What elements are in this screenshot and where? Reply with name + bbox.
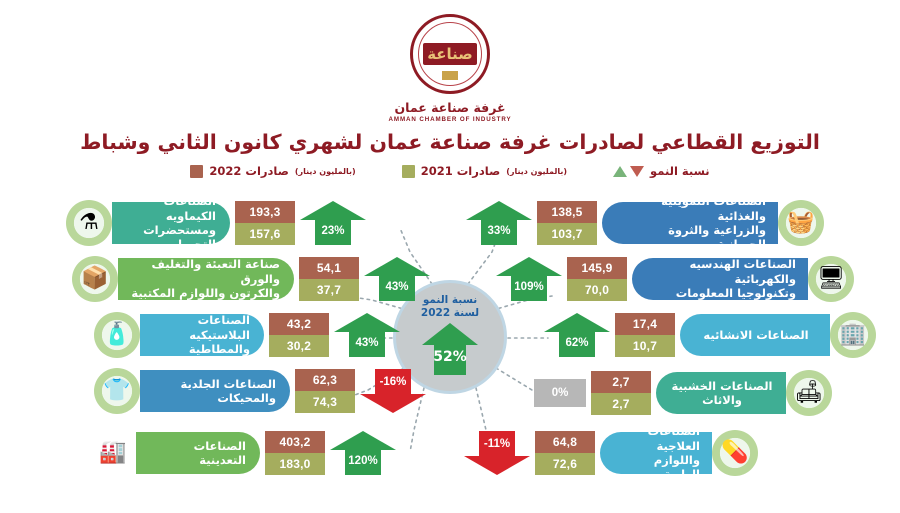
sector-label-line1: الصناعات الخشبية والاثاث xyxy=(670,379,774,408)
value-stack: 145,9 70,0 xyxy=(567,257,627,301)
hub-growth-value: 52% xyxy=(422,349,478,365)
value-2022: 138,5 xyxy=(537,201,597,223)
value-2021: 2,7 xyxy=(591,393,651,415)
growth-up-arrow-icon: 62% xyxy=(544,313,610,357)
value-2022: 43,2 xyxy=(269,313,329,335)
sector-label-line1: الصناعات التعدينية xyxy=(148,439,246,468)
growth-up-arrow-icon: 43% xyxy=(364,257,430,301)
value-stack: 2,7 2,7 xyxy=(591,371,651,415)
value-2021: 103,7 xyxy=(537,223,597,245)
legend-item-growth: نسبة النمو xyxy=(613,164,710,178)
legend-label-2022: صادرات 2022 xyxy=(209,164,288,178)
sector-row[interactable]: 💊 الصناعات العلاجية واللوازم الطبية 64,8… xyxy=(464,430,758,476)
sector-label-line1: الصناعات البلاستيكيه xyxy=(152,313,250,342)
value-stack: 403,2 183,0 xyxy=(265,431,325,475)
seal-text: صناعة xyxy=(427,47,473,62)
growth-up-arrow-icon: 43% xyxy=(334,313,400,357)
sector-label-line1: الصناعات التموينية والغذائية xyxy=(616,194,766,223)
value-2021: 37,7 xyxy=(299,279,359,301)
value-2021: 183,0 xyxy=(265,453,325,475)
sector-label-bar[interactable]: الصناعات الجلدية والمحيكات xyxy=(140,370,290,412)
sector-row[interactable]: 43% 43,2 30,2 الصناعات البلاستيكيه والمط… xyxy=(94,312,400,358)
legend-swatch-2022-icon xyxy=(190,165,203,178)
brand-logo: صناعة غرفة صناعة عمان AMMAN CHAMBER OF I… xyxy=(0,14,900,123)
sector-label-bar[interactable]: الصناعات التموينية والغذائية والزراعية و… xyxy=(602,202,778,244)
chamber-seal-icon: صناعة xyxy=(410,14,490,94)
sector-row[interactable]: 43% 54,1 37,7 صناعة التعبئة والتغليف وال… xyxy=(72,256,430,302)
sector-label-bar[interactable]: الصناعات الخشبية والاثاث xyxy=(656,372,786,414)
sector-label-line1: الصناعات الكيماويه xyxy=(124,194,216,223)
value-stack: 138,5 103,7 xyxy=(537,201,597,245)
sector-label-bar[interactable]: الصناعات الهندسيه والكهربائية وتكنولوجيا… xyxy=(632,258,808,300)
value-2022: 2,7 xyxy=(591,371,651,393)
value-2022: 62,3 xyxy=(295,369,355,391)
growth-value: 43% xyxy=(364,281,430,293)
sector-label-bar[interactable]: الصناعات العلاجية واللوازم الطبية xyxy=(600,432,712,474)
legend-label-growth: نسبة النمو xyxy=(650,164,710,178)
brand-name-en: AMMAN CHAMBER OF INDUSTRY xyxy=(389,116,512,123)
growth-value: 23% xyxy=(300,225,366,237)
infographic-canvas: صناعة غرفة صناعة عمان AMMAN CHAMBER OF I… xyxy=(0,0,900,513)
legend-label-2021: صادرات 2021 xyxy=(421,164,500,178)
up-arrow-icon: 52% xyxy=(422,323,478,375)
sector-label-line2: والزراعية والثروة الحيوانية xyxy=(616,223,766,252)
page-title: التوزيع القطاعي لصادرات غرفة صناعة عمان … xyxy=(0,130,900,154)
mining-silos-icon: 🏭 xyxy=(90,430,136,476)
value-stack: 43,2 30,2 xyxy=(269,313,329,357)
value-2022: 193,3 xyxy=(235,201,295,223)
growth-down-arrow-icon: -16% xyxy=(360,369,426,413)
legend-swatch-2021-icon xyxy=(402,165,415,178)
sector-label-line1: صناعة التعبئة والتغليف والورق xyxy=(130,257,280,286)
value-2021: 70,0 xyxy=(567,279,627,301)
value-2021: 72,6 xyxy=(535,453,595,475)
growth-value: 109% xyxy=(496,281,562,293)
sector-label-line2: وتكنولوجيا المعلومات xyxy=(646,286,796,300)
sector-label-line2: ومستحضرات التجميل xyxy=(124,223,216,252)
sector-label-line1: الصناعات الجلدية والمحيكات xyxy=(152,377,276,406)
legend-item-exports-2021: (بالمليون دينار) صادرات 2021 xyxy=(402,164,567,178)
brand-name-ar: غرفة صناعة عمان xyxy=(394,100,505,115)
sector-label-bar[interactable]: الصناعات التعدينية xyxy=(136,432,260,474)
growth-up-arrow-icon: 120% xyxy=(330,431,396,475)
sector-label-bar[interactable]: الصناعات البلاستيكيه والمطاطية xyxy=(140,314,264,356)
sector-label-line2: والكرتون واللوازم المكتبية xyxy=(130,286,280,300)
sector-label-bar[interactable]: الصناعات الانشائيه xyxy=(680,314,830,356)
growth-up-arrow-icon: 23% xyxy=(300,201,366,245)
value-2021: 74,3 xyxy=(295,391,355,413)
value-2022: 403,2 xyxy=(265,431,325,453)
value-stack: 54,1 37,7 xyxy=(299,257,359,301)
sector-label-line2: واللوازم الطبية xyxy=(614,453,700,482)
legend: نسبة النمو (بالمليون دينار) صادرات 2021 … xyxy=(0,164,900,178)
building-icon: 🏢 xyxy=(830,312,876,358)
growth-value: -11% xyxy=(464,438,530,450)
sector-row[interactable]: 🛋 الصناعات الخشبية والاثاث 2,7 2,7 0% xyxy=(534,370,832,416)
value-2021: 30,2 xyxy=(269,335,329,357)
folded-textiles-icon: 👕 xyxy=(94,368,140,414)
legend-note-2022: (بالمليون دينار) xyxy=(295,167,356,176)
value-2021: 157,6 xyxy=(235,223,295,245)
sector-label-line1: الصناعات العلاجية xyxy=(614,424,700,453)
value-2022: 64,8 xyxy=(535,431,595,453)
plastic-bottle-icon: 🧴 xyxy=(94,312,140,358)
growth-up-arrow-icon: 109% xyxy=(496,257,562,301)
up-down-arrow-icon xyxy=(613,166,644,177)
value-2022: 17,4 xyxy=(615,313,675,335)
growth-value: 43% xyxy=(334,337,400,349)
seal-emblem-icon xyxy=(442,71,458,80)
growth-down-arrow-icon: -11% xyxy=(464,431,530,475)
value-stack: 17,4 10,7 xyxy=(615,313,675,357)
sector-row[interactable]: 🧺 الصناعات التموينية والغذائية والزراعية… xyxy=(466,200,824,246)
flask-icon: ⚗ xyxy=(66,200,112,246)
sector-label-bar[interactable]: صناعة التعبئة والتغليف والورق والكرتون و… xyxy=(118,258,294,300)
sector-row[interactable]: 23% 193,3 157,6 الصناعات الكيماويه ومستح… xyxy=(66,200,366,246)
value-stack: 64,8 72,6 xyxy=(535,431,595,475)
growth-value: 62% xyxy=(544,337,610,349)
circuit-board-icon: 🖥 xyxy=(808,256,854,302)
legend-note-2021: (بالمليون دينار) xyxy=(506,167,567,176)
sector-row[interactable]: -16% 62,3 74,3 الصناعات الجلدية والمحيكا… xyxy=(94,368,426,414)
medicine-icon: 💊 xyxy=(712,430,758,476)
sector-label-bar[interactable]: الصناعات الكيماويه ومستحضرات التجميل xyxy=(112,202,230,244)
armchair-icon: 🛋 xyxy=(786,370,832,416)
value-2022: 145,9 xyxy=(567,257,627,279)
grocery-basket-icon: 🧺 xyxy=(778,200,824,246)
sector-label-line1: الصناعات الهندسيه والكهربائية xyxy=(646,257,796,286)
legend-item-exports-2022: (بالمليون دينار) صادرات 2022 xyxy=(190,164,355,178)
sector-row[interactable]: 120% 403,2 183,0 الصناعات التعدينية 🏭 xyxy=(90,430,396,476)
sector-row[interactable]: 🖥 الصناعات الهندسيه والكهربائية وتكنولوج… xyxy=(496,256,854,302)
sector-label-line2: والمطاطية xyxy=(152,342,250,356)
growth-up-arrow-icon: 33% xyxy=(466,201,532,245)
value-stack: 62,3 74,3 xyxy=(295,369,355,413)
growth-zero-badge: 0% xyxy=(534,379,586,407)
growth-value: 120% xyxy=(330,455,396,467)
value-stack: 193,3 157,6 xyxy=(235,201,295,245)
value-2022: 54,1 xyxy=(299,257,359,279)
sector-label-line1: الصناعات الانشائيه xyxy=(703,328,808,342)
growth-value: -16% xyxy=(360,376,426,388)
growth-value: 33% xyxy=(466,225,532,237)
package-boxes-icon: 📦 xyxy=(72,256,118,302)
sector-row[interactable]: 🏢 الصناعات الانشائيه 17,4 10,7 62% xyxy=(544,312,876,358)
value-2021: 10,7 xyxy=(615,335,675,357)
